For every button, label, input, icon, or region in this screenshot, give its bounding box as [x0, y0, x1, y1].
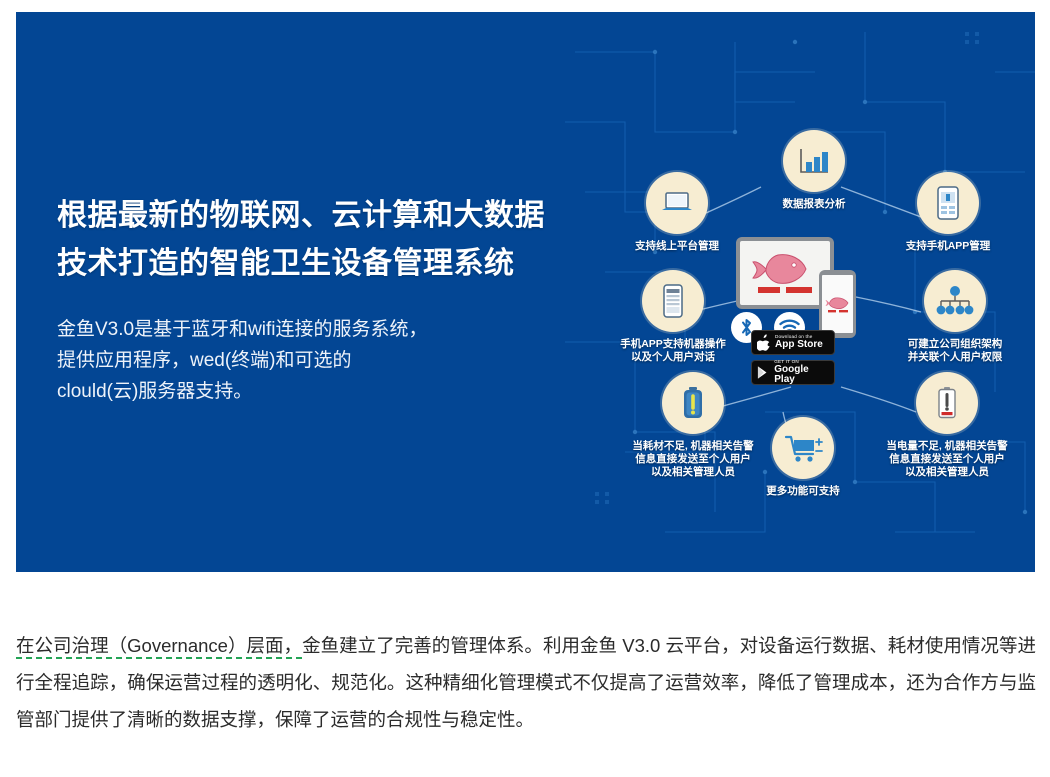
consumable-alert-icon	[662, 372, 724, 434]
app-store-badges: Download on the App Store GET IT ON Goog…	[751, 330, 835, 390]
central-phone-device	[819, 270, 856, 338]
hero-subtitle-line-3: clould(云)服务器支持。	[57, 381, 252, 402]
google-play-icon	[757, 365, 770, 380]
hero-subtitle: 金鱼V3.0是基于蓝牙和wifi连接的服务系统， 提供应用程序，wed(终端)和…	[57, 314, 587, 407]
smartphone-icon	[642, 270, 704, 332]
node-label: 支持手机APP管理	[883, 240, 1013, 253]
node-label: 可建立公司组织架构 并关联个人用户权限	[879, 338, 1031, 364]
battery-alert-icon	[916, 372, 978, 434]
node-app-machine-operation[interactable]: 手机APP支持机器操作 以及个人用户对话	[597, 270, 749, 364]
google-play-badge[interactable]: GET IT ON Google Play	[751, 360, 835, 385]
node-org-structure[interactable]: 可建立公司组织架构 并关联个人用户权限	[879, 270, 1031, 364]
node-label: 当电量不足, 机器相关告警 信息直接发送至个人用户 以及相关管理人员	[863, 440, 1031, 479]
hero-subtitle-line-1: 金鱼V3.0是基于蓝牙和wifi连接的服务系统，	[57, 319, 428, 340]
phone-screen	[822, 275, 853, 333]
grammar-highlighted-phrase: 在公司治理（Governance）层面，	[16, 635, 302, 659]
org-chart-icon	[924, 270, 986, 332]
node-data-report-analysis[interactable]: 数据报表分析	[754, 130, 874, 211]
node-battery-low-alert[interactable]: 当电量不足, 机器相关告警 信息直接发送至个人用户 以及相关管理人员	[863, 372, 1031, 479]
node-more-features[interactable]: 更多功能可支持	[741, 417, 865, 498]
article-paragraph: 在公司治理（Governance）层面，金鱼建立了完善的管理体系。利用金鱼 V3…	[16, 627, 1036, 738]
node-label: 数据报表分析	[754, 198, 874, 211]
node-mobile-app-management[interactable]: 支持手机APP管理	[883, 172, 1013, 253]
hero-text-block: 根据最新的物联网、云计算和大数据 技术打造的智能卫生设备管理系统 金鱼V3.0是…	[57, 192, 587, 407]
bar-chart-icon	[783, 130, 845, 192]
tablet-screen	[740, 241, 830, 305]
node-label: 手机APP支持机器操作 以及个人用户对话	[597, 338, 749, 364]
hero-title: 根据最新的物联网、云计算和大数据 技术打造的智能卫生设备管理系统	[57, 192, 587, 288]
google-play-bottom-line: Google Play	[774, 365, 829, 385]
apple-icon	[757, 334, 771, 351]
hero-title-line-2: 技术打造的智能卫生设备管理系统	[57, 247, 515, 280]
hero-banner: 根据最新的物联网、云计算和大数据 技术打造的智能卫生设备管理系统 金鱼V3.0是…	[16, 12, 1035, 572]
mobile-app-icon	[917, 172, 979, 234]
hero-title-line-1: 根据最新的物联网、云计算和大数据	[57, 199, 545, 232]
hero-subtitle-line-2: 提供应用程序，wed(终端)和可选的	[57, 350, 352, 371]
node-online-platform-management[interactable]: 支持线上平台管理	[615, 172, 739, 253]
node-label: 支持线上平台管理	[615, 240, 739, 253]
app-store-badge[interactable]: Download on the App Store	[751, 330, 835, 355]
node-label: 更多功能可支持	[741, 485, 865, 498]
shopping-cart-icon	[772, 417, 834, 479]
infographic: 数据报表分析 支持线上平台管理	[591, 12, 1035, 572]
app-store-bottom-line: App Store	[775, 340, 823, 350]
laptop-icon	[646, 172, 708, 234]
brand-fish-logo-small	[825, 295, 851, 313]
brand-fish-logo	[748, 249, 822, 297]
